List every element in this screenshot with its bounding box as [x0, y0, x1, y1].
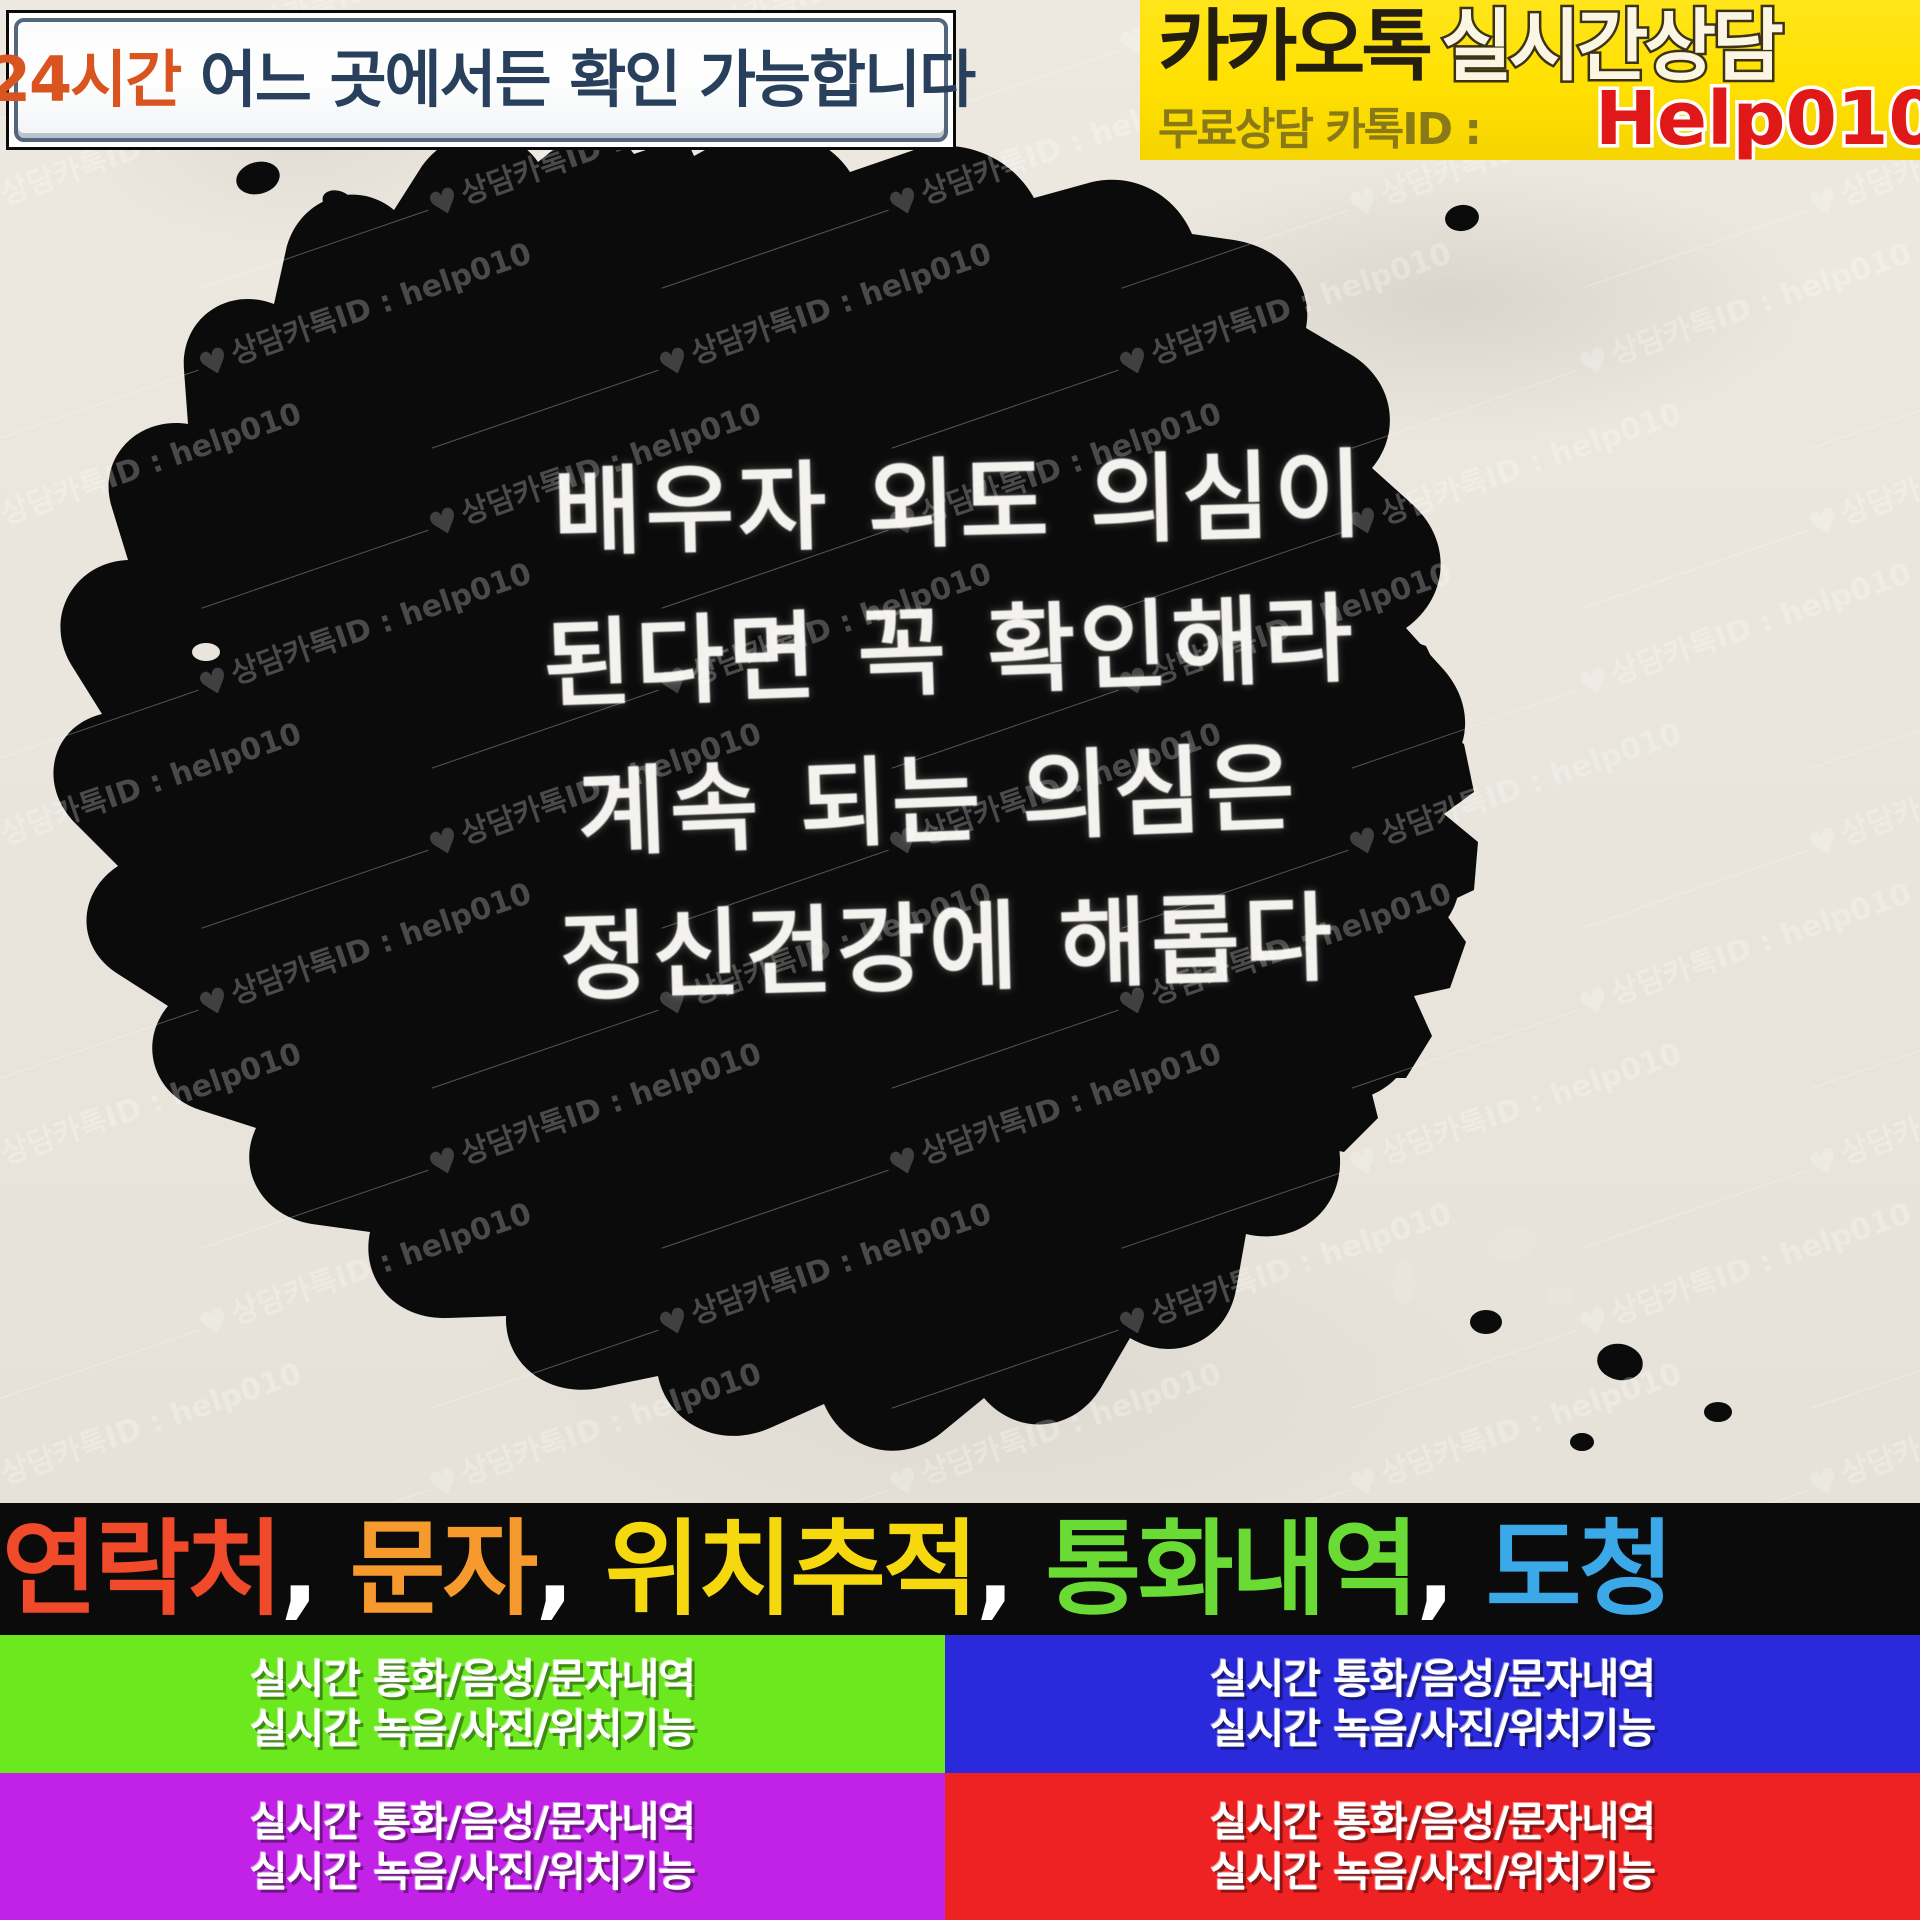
kakao-consult-banner[interactable]: 카카오톡실시간상담 무료상담 카톡ID : Help010	[1140, 0, 1920, 160]
kakao-headline: 카카오톡실시간상담	[1158, 8, 1780, 86]
keyword-separator-4: ,	[1416, 1508, 1486, 1630]
keyword-separator-3: ,	[976, 1508, 1046, 1630]
service-keywords: 연락처, 문자, 위치추적, 통화내역, 도청	[0, 1517, 1671, 1621]
ink-blot-graphic	[0, 140, 1920, 1520]
quadrant-green-line-2: 실시간 녹음/사진/위치기능	[250, 1704, 695, 1754]
poster-canvas: 배우자 외도 의심이 된다면 꼭 확인해라 계속 되는 의심은 정신건강에 해롭…	[0, 0, 1920, 1920]
feature-quadrants: 실시간 통화/음성/문자내역 실시간 녹음/사진/위치기능 실시간 통화/음성/…	[0, 1635, 1920, 1920]
kakao-brand-label: 카카오톡	[1158, 2, 1429, 92]
quadrant-red-line-2: 실시간 녹음/사진/위치기능	[1210, 1847, 1655, 1897]
service-keywords-strip: 연락처, 문자, 위치추적, 통화내역, 도청	[0, 1503, 1920, 1635]
availability-message: 어느 곳에서든 확인 가능합니다	[200, 43, 974, 116]
quadrant-red-line-1: 실시간 통화/음성/문자내역	[1210, 1797, 1655, 1847]
keyword-messages: 문자	[350, 1508, 535, 1630]
quadrant-green-line-1: 실시간 통화/음성/문자내역	[250, 1654, 695, 1704]
keyword-call-history: 통화내역	[1045, 1508, 1416, 1630]
quadrant-blue[interactable]: 실시간 통화/음성/문자내역 실시간 녹음/사진/위치기능	[945, 1635, 1920, 1773]
keyword-location-tracking: 위치추적	[605, 1508, 976, 1630]
keyword-wiretap: 도청	[1486, 1508, 1671, 1630]
quadrant-blue-line-2: 실시간 녹음/사진/위치기능	[1210, 1704, 1655, 1754]
keyword-separator-1: ,	[280, 1508, 350, 1630]
free-consult-label: 무료상담 카톡ID :	[1158, 108, 1480, 152]
kakao-id-value[interactable]: Help010	[1595, 82, 1920, 156]
quadrant-magenta[interactable]: 실시간 통화/음성/문자내역 실시간 녹음/사진/위치기능	[0, 1773, 945, 1920]
keyword-contacts: 연락처	[2, 1508, 280, 1630]
availability-banner: 24시간 어느 곳에서든 확인 가능합니다	[6, 10, 956, 150]
quadrant-magenta-line-2: 실시간 녹음/사진/위치기능	[250, 1847, 695, 1897]
quadrant-magenta-line-1: 실시간 통화/음성/문자내역	[250, 1797, 695, 1847]
quadrant-green[interactable]: 실시간 통화/음성/문자내역 실시간 녹음/사진/위치기능	[0, 1635, 945, 1773]
quadrant-red[interactable]: 실시간 통화/음성/문자내역 실시간 녹음/사진/위치기능	[945, 1773, 1920, 1920]
quadrant-blue-line-1: 실시간 통화/음성/문자내역	[1210, 1654, 1655, 1704]
keyword-separator-2: ,	[535, 1508, 605, 1630]
hours-label: 24시간	[0, 43, 180, 116]
